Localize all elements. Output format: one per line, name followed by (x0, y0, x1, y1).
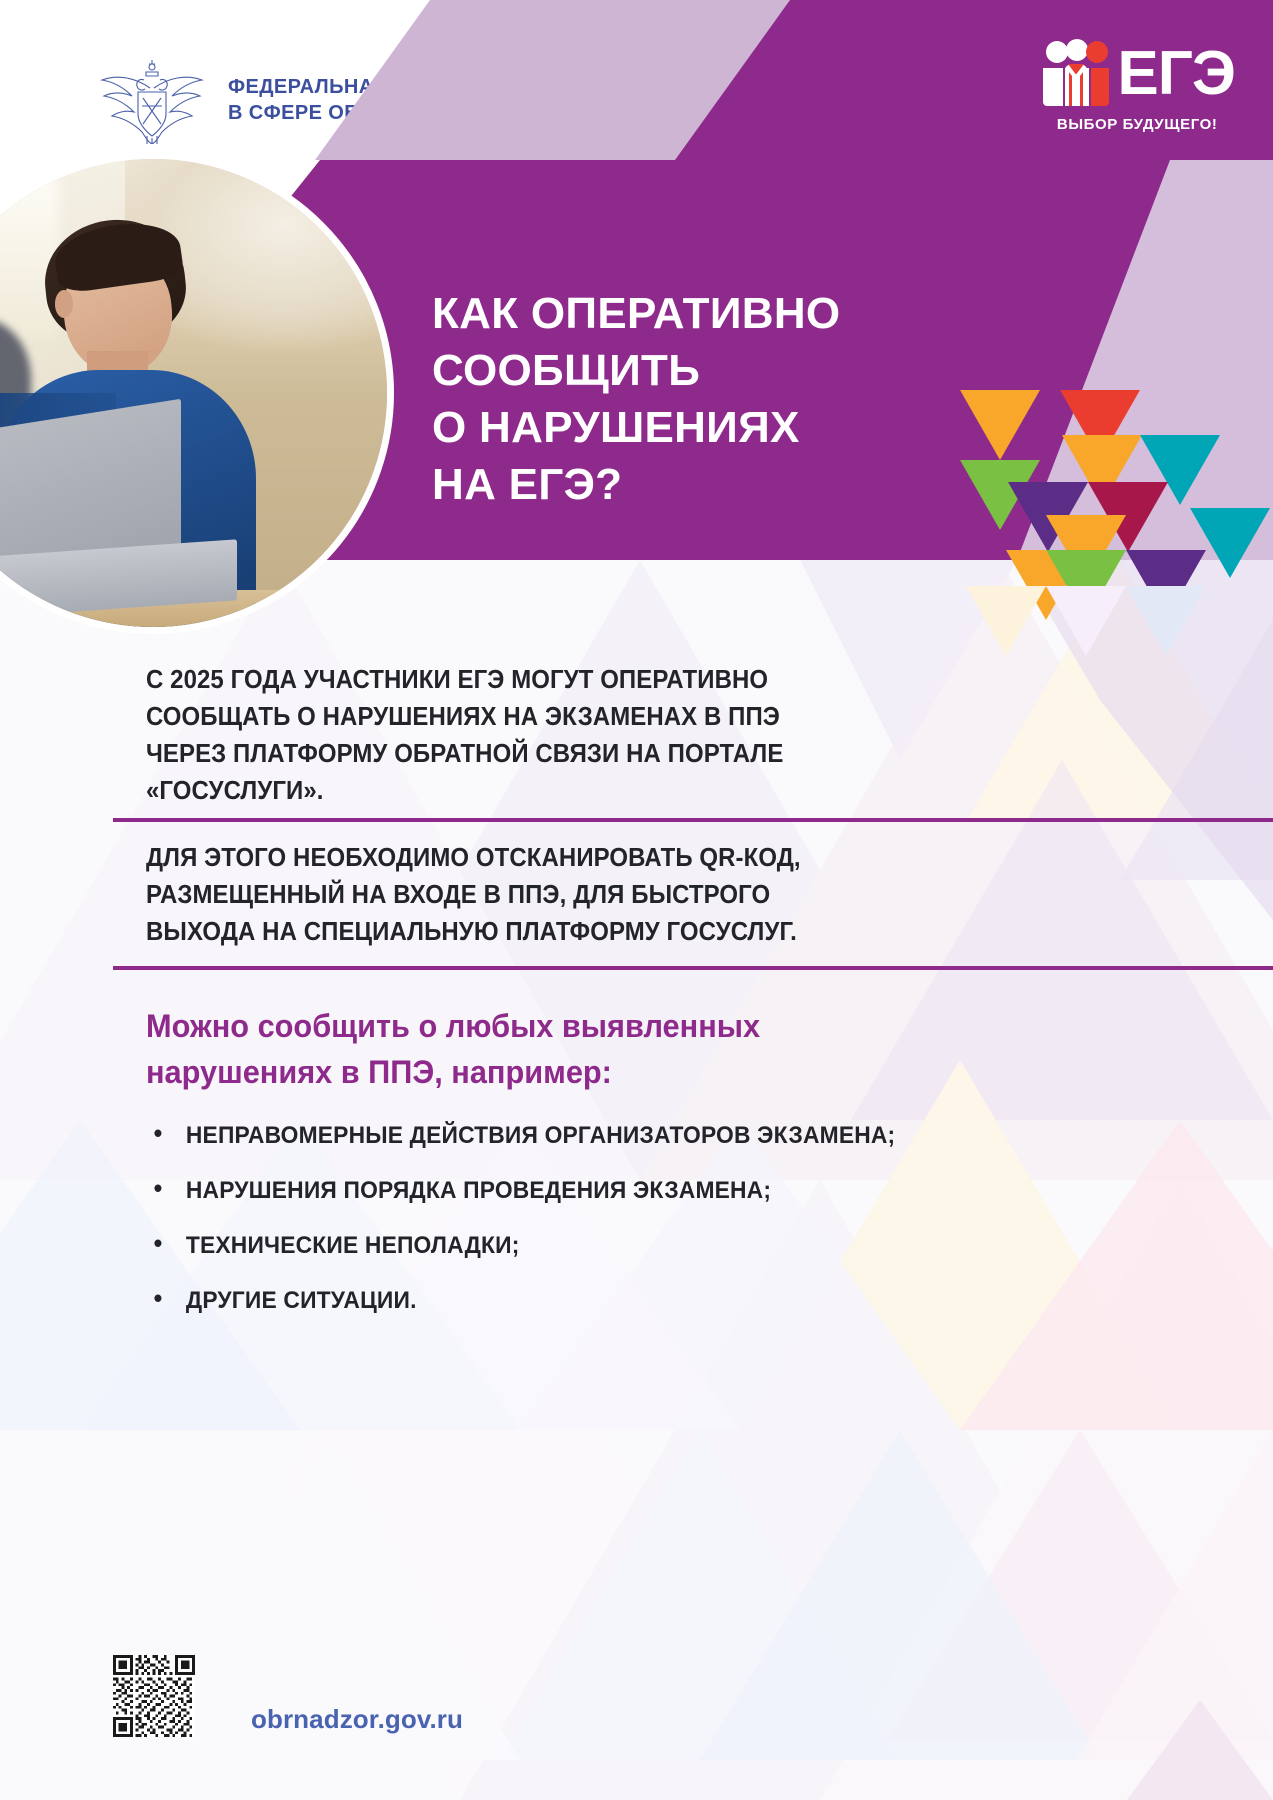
list-item: НАРУШЕНИЯ ПОРЯДКА ПРОВЕДЕНИЯ ЭКЗАМЕНА; (146, 1173, 906, 1208)
list-item: ДРУГИЕ СИТУАЦИИ. (146, 1283, 906, 1318)
page-title: КАК ОПЕРАТИВНО СООБЩИТЬ О НАРУШЕНИЯХ НА … (432, 285, 992, 513)
list-item: ТЕХНИЧЕСКИЕ НЕПОЛАДКИ; (146, 1228, 906, 1263)
list-item: НЕПРАВОМЕРНЫЕ ДЕЙСТВИЯ ОРГАНИЗАТОРОВ ЭКЗ… (146, 1118, 906, 1153)
violation-types-list: НЕПРАВОМЕРНЫЕ ДЕЙСТВИЯ ОРГАНИЗАТОРОВ ЭКЗ… (146, 1118, 946, 1338)
student-photo-image (0, 159, 387, 627)
section-heading: Можно сообщить о любых выявленных наруше… (146, 1003, 914, 1095)
intro-paragraph: С 2025 ГОДА УЧАСТНИКИ ЕГЭ МОГУТ ОПЕРАТИВ… (146, 662, 889, 810)
poster-root: ФЕДЕРАЛЬНАЯ СЛУЖБА ПО НАДЗОРУ В СФЕРЕ ОБ… (0, 0, 1273, 1800)
decorative-triangle-cluster-icon (950, 390, 1273, 680)
divider-2 (113, 966, 1273, 970)
rosobrnadzor-eagle-emblem-icon (92, 58, 212, 144)
divider-1 (113, 818, 1273, 822)
qr-code-icon[interactable] (113, 1655, 195, 1737)
website-url[interactable]: obrnadzor.gov.ru (251, 1704, 463, 1737)
footer: obrnadzor.gov.ru (113, 1655, 463, 1737)
ege-logo: ЕГЭ ВЫБОР БУДУЩЕГО! (1039, 38, 1235, 133)
ege-wordmark: ЕГЭ (1117, 43, 1235, 105)
ege-tagline: ВЫБОР БУДУЩЕГО! (1039, 116, 1235, 133)
instructions-paragraph: ДЛЯ ЭТОГО НЕОБХОДИМО ОТСКАНИРОВАТЬ QR-КО… (146, 840, 889, 951)
ege-people-mark-icon (1039, 38, 1113, 110)
ege-logo-row: ЕГЭ (1039, 38, 1235, 110)
student-photo (0, 152, 394, 634)
